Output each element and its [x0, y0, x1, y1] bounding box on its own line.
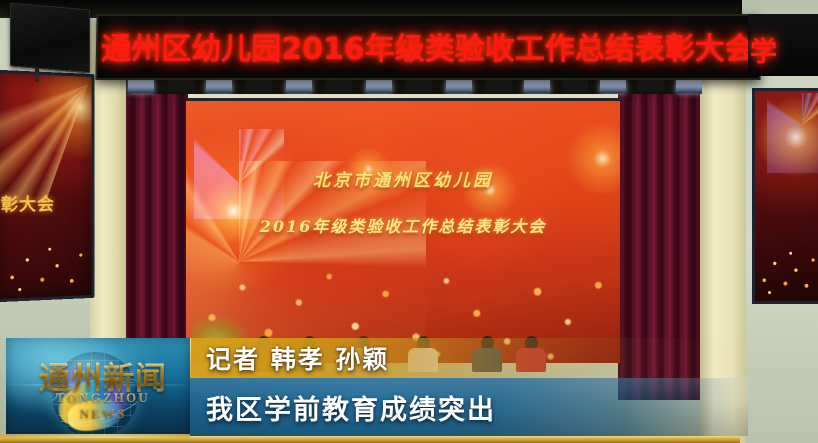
- channel-logo-panel: 通州新闻 TONGZHOU NEWS: [6, 338, 190, 436]
- lower-third-gold-bar-highlight: [0, 434, 190, 438]
- stage-lamp-8: [446, 78, 472, 93]
- led-marquee-text: 通州区幼儿园2016年级类验收工作总结表彰大会: [106, 23, 751, 69]
- stage-lamp-0: [128, 78, 154, 93]
- side-screen-right-firework: [767, 93, 818, 173]
- stage-led-screen: 北京市通州区幼儿园 2016年级类验收工作总结表彰大会: [186, 98, 620, 363]
- lower-third-gold-bar: [0, 436, 740, 443]
- side-screen-left-text: 彰大会: [1, 190, 55, 216]
- side-display-screen-left: 彰大会: [0, 70, 94, 303]
- headline-text: 我区学前教育成绩突出: [206, 382, 496, 432]
- side-screen-right-dots: [755, 241, 818, 297]
- reporter-credit-text: 记者 韩孝 孙颖: [206, 342, 389, 374]
- led-marquee-overflow-panel: 学: [748, 14, 818, 76]
- stage-lamp-14: [676, 78, 702, 93]
- stage-lamp-9: [486, 78, 512, 93]
- led-marquee-overflow-text: 学: [750, 30, 777, 69]
- led-marquee-banner: 通州区幼儿园2016年级类验收工作总结表彰大会: [95, 14, 760, 80]
- stage-lamp-10: [524, 78, 550, 93]
- channel-logo-chinese: 通州新闻: [38, 356, 168, 394]
- stage-screen-firework-burst: [194, 129, 284, 219]
- stage-lamp-3: [246, 78, 272, 93]
- side-screen-left-rays: [0, 80, 88, 204]
- side-screen-left-dots: [0, 236, 92, 295]
- lower-third-graphic: 记者 韩孝 孙颖 我区学前教育成绩突出 通州新闻 TONGZHOU NEWS: [0, 334, 818, 443]
- stage-lamp-1: [168, 78, 194, 93]
- ceiling-speaker: [10, 3, 90, 74]
- side-display-screen-right: [752, 88, 818, 304]
- stage-lamp-4: [286, 78, 312, 93]
- stage-lamp-13: [638, 78, 664, 93]
- stage-lamp-2: [206, 78, 232, 93]
- stage-lamp-5: [326, 78, 352, 93]
- stage-lamp-12: [600, 78, 626, 93]
- broadcast-screenshot: 北京市通州区幼儿园 2016年级类验收工作总结表彰大会 彰大会 通州区幼儿园20…: [0, 0, 818, 443]
- stage-lamp-7: [406, 78, 432, 93]
- stage-lamp-6: [366, 78, 392, 93]
- stage-lamp-11: [562, 78, 588, 93]
- channel-logo-english: TONGZHOU NEWS: [30, 390, 176, 422]
